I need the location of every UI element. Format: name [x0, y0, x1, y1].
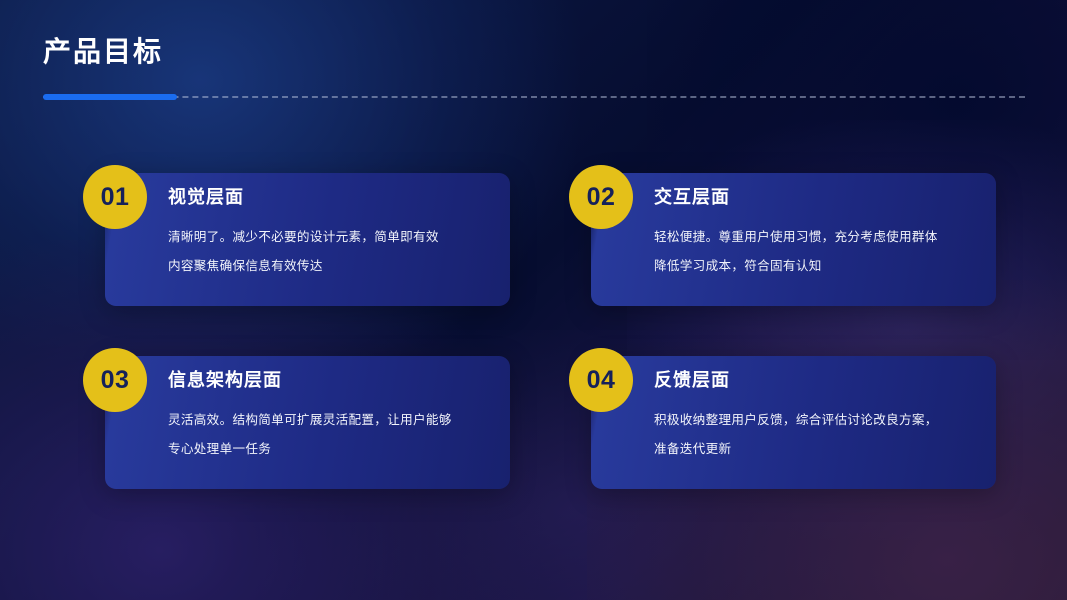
goal-card-04[interactable]: 04 反馈层面 积极收纳整理用户反馈，综合评估讨论改良方案， 准备迭代更新	[569, 348, 996, 513]
goal-cards-grid: 01 视觉层面 清晰明了。减少不必要的设计元素，简单即有效 内容聚焦确保信息有效…	[0, 0, 1067, 600]
goal-card-03[interactable]: 03 信息架构层面 灵活高效。结构简单可扩展灵活配置，让用户能够 专心处理单一任…	[83, 348, 510, 513]
goal-card-title: 反馈层面	[654, 368, 984, 392]
goal-card-title: 交互层面	[654, 185, 984, 209]
goal-card-number: 03	[101, 368, 130, 393]
goal-card-content: 信息架构层面 灵活高效。结构简单可扩展灵活配置，让用户能够 专心处理单一任务	[168, 368, 498, 464]
goal-card-number: 01	[101, 185, 130, 210]
goal-card-number-badge: 03	[83, 348, 147, 412]
goal-card-number-badge: 01	[83, 165, 147, 229]
goal-card-01[interactable]: 01 视觉层面 清晰明了。减少不必要的设计元素，简单即有效 内容聚焦确保信息有效…	[83, 165, 510, 330]
goal-card-title: 信息架构层面	[168, 368, 498, 392]
goal-card-description: 清晰明了。减少不必要的设计元素，简单即有效 内容聚焦确保信息有效传达	[168, 223, 498, 281]
slide-root: 产品目标 01 视觉层面 清晰明了。减少不必要的设计元素，简单即有效 内容聚焦确…	[0, 0, 1067, 600]
goal-card-description: 灵活高效。结构简单可扩展灵活配置，让用户能够 专心处理单一任务	[168, 406, 498, 464]
goal-card-number-badge: 04	[569, 348, 633, 412]
goal-card-content: 反馈层面 积极收纳整理用户反馈，综合评估讨论改良方案， 准备迭代更新	[654, 368, 984, 464]
goal-card-02[interactable]: 02 交互层面 轻松便捷。尊重用户使用习惯，充分考虑使用群体 降低学习成本，符合…	[569, 165, 996, 330]
goal-card-number: 04	[587, 368, 616, 393]
goal-card-title: 视觉层面	[168, 185, 498, 209]
goal-card-number: 02	[587, 185, 616, 210]
goal-card-number-badge: 02	[569, 165, 633, 229]
goal-card-content: 交互层面 轻松便捷。尊重用户使用习惯，充分考虑使用群体 降低学习成本，符合固有认…	[654, 185, 984, 281]
goal-card-description: 轻松便捷。尊重用户使用习惯，充分考虑使用群体 降低学习成本，符合固有认知	[654, 223, 984, 281]
goal-card-description: 积极收纳整理用户反馈，综合评估讨论改良方案， 准备迭代更新	[654, 406, 984, 464]
goal-card-content: 视觉层面 清晰明了。减少不必要的设计元素，简单即有效 内容聚焦确保信息有效传达	[168, 185, 498, 281]
